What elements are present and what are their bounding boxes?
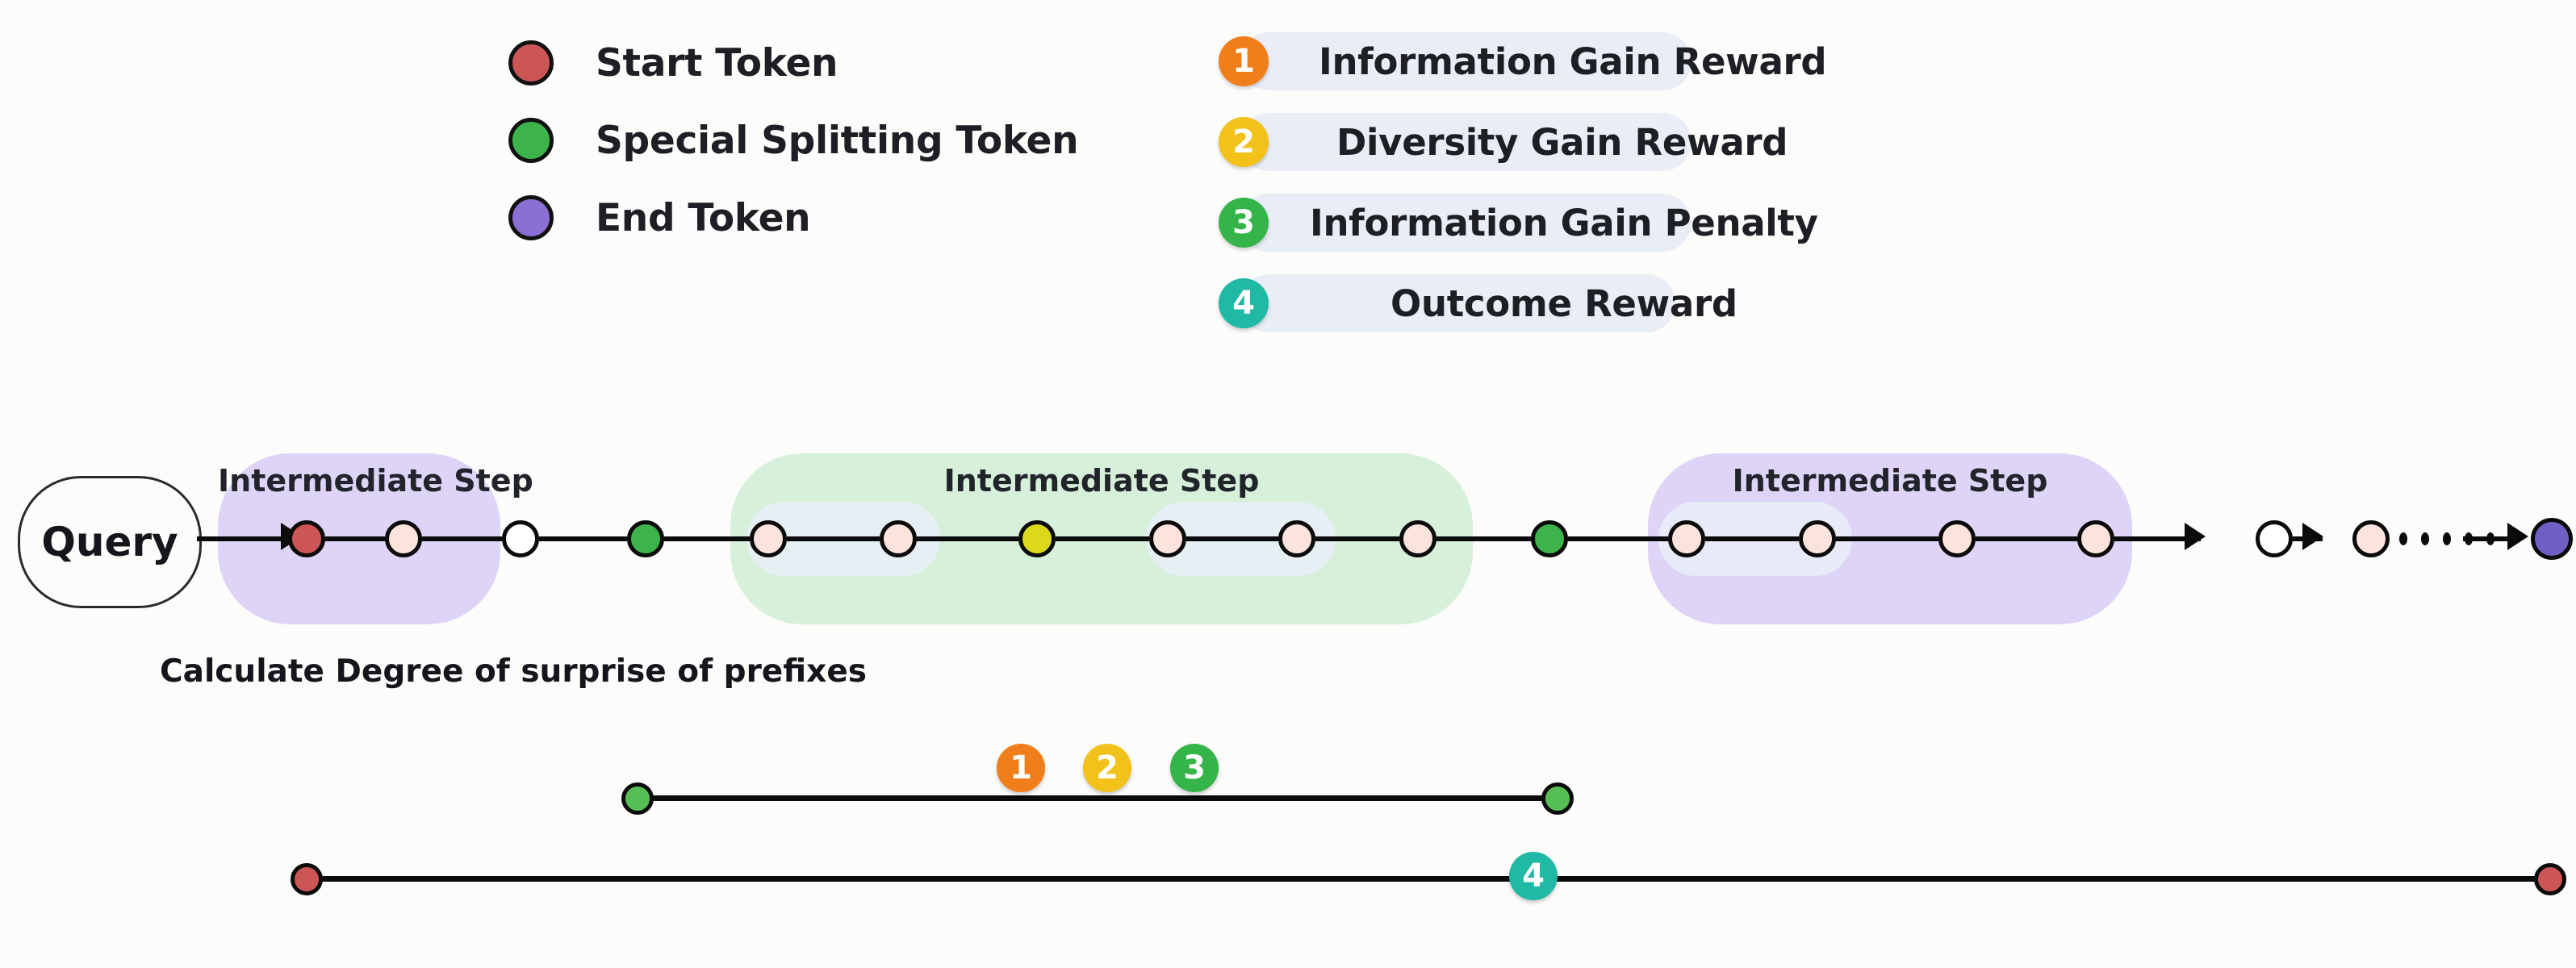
reward-badge-4: 4 (1219, 278, 1269, 328)
timeline-node-prefix (1149, 520, 1186, 557)
timeline-connector (1315, 536, 1399, 541)
timeline-node-prefix (2077, 520, 2114, 557)
segment-line (307, 876, 2550, 882)
segment-end-node (2534, 863, 2566, 895)
intermediate-step-label: Intermediate Step (730, 463, 1473, 499)
legend-label-start-token: Start Token (596, 41, 838, 86)
timeline-connector (1976, 536, 2077, 541)
timeline-node-plain (2256, 520, 2293, 557)
timeline-node-prefix (385, 520, 422, 557)
token-legend: Start Token Special Splitting Token End … (508, 24, 1138, 257)
reward-label-2: Diversity Gain Reward (1336, 121, 1788, 164)
timeline-node-split (627, 520, 664, 557)
segment-reward-badge-4: 4 (1509, 852, 1558, 900)
legend-item-end-token: End Token (508, 179, 1138, 257)
timeline-connector (539, 536, 627, 541)
timeline-node-plain (502, 520, 539, 557)
timeline-node-prefix (750, 520, 787, 557)
segment-start-node (291, 863, 323, 895)
intermediate-step-label: Intermediate Step (1648, 463, 2132, 499)
legend-item-special-splitting-token: Special Splitting Token (508, 102, 1138, 179)
legend-item-start-token: Start Token (508, 24, 1138, 102)
query-label: Query (41, 519, 178, 565)
timeline-connector (1436, 536, 1531, 541)
ellipsis-dots-icon (2225, 531, 2250, 547)
reward-legend: 1Information Gain Reward2Diversity Gain … (1219, 21, 2187, 344)
timeline-connector (1705, 536, 1799, 541)
timeline-connector (787, 536, 880, 541)
arrow-head-icon (2302, 523, 2323, 550)
timeline-node-prefix (1799, 520, 1836, 557)
timeline-node-prefix (2352, 520, 2390, 557)
segment-reward-badge-1: 1 (997, 744, 1045, 792)
segment-reward-badge-3: 3 (1170, 744, 1219, 792)
timeline-node-prefix (1399, 520, 1436, 557)
timeline-connector (1568, 536, 1668, 541)
reward-legend-item-1: 1Information Gain Reward (1219, 21, 2187, 102)
timeline-node-split (1531, 520, 1568, 557)
timeline-connector (664, 536, 750, 541)
segment-start-node (621, 782, 654, 815)
timeline-node-diversity (1018, 520, 1056, 557)
reward-legend-item-4: 4Outcome Reward (1219, 263, 2187, 344)
timeline-connector (325, 536, 385, 541)
reward-legend-item-3: 3Information Gain Penalty (1219, 182, 2187, 263)
reward-label-4: Outcome Reward (1390, 282, 1738, 325)
timeline-connector (917, 536, 1018, 541)
arrow-head-icon (2185, 523, 2206, 550)
segment-end-node (1541, 782, 1574, 815)
reward-badge-2: 2 (1219, 117, 1269, 167)
reward-legend-item-2: 2Diversity Gain Reward (1219, 102, 2187, 182)
reward-badge-1: 1 (1219, 36, 1269, 86)
timeline-connector (1186, 536, 1278, 541)
timeline-node-start (288, 520, 325, 557)
timeline-caption: Calculate Degree of surprise of prefixes (160, 653, 867, 690)
timeline-connector (1056, 536, 1149, 541)
diagram-canvas: Start Token Special Splitting Token End … (0, 0, 2576, 968)
special-splitting-token-circle-icon (508, 118, 554, 163)
reward-label-3: Information Gain Penalty (1310, 202, 1818, 244)
legend-label-special-splitting-token: Special Splitting Token (596, 119, 1078, 163)
segment-reward-badge-2: 2 (1083, 744, 1131, 792)
segment-line (638, 795, 1558, 801)
reward-label-1: Information Gain Reward (1319, 40, 1826, 83)
query-node: Query (18, 476, 202, 608)
timeline-connector (1836, 536, 1938, 541)
timeline-node-prefix (1938, 520, 1976, 557)
reward-badge-3: 3 (1219, 198, 1269, 248)
end-token-circle-icon (508, 195, 554, 240)
outcome-reward-segment: 4 (0, 831, 2576, 928)
timeline-node-prefix (1278, 520, 1315, 557)
legend-label-end-token: End Token (596, 196, 810, 240)
timeline-node-end (2531, 518, 2573, 560)
arrow-head-icon (2507, 523, 2528, 550)
start-token-circle-icon (508, 40, 554, 86)
timeline-node-prefix (880, 520, 917, 557)
intermediate-step-label: Intermediate Step (218, 463, 500, 499)
timeline-connector (422, 536, 502, 541)
timeline-node-prefix (1668, 520, 1705, 557)
